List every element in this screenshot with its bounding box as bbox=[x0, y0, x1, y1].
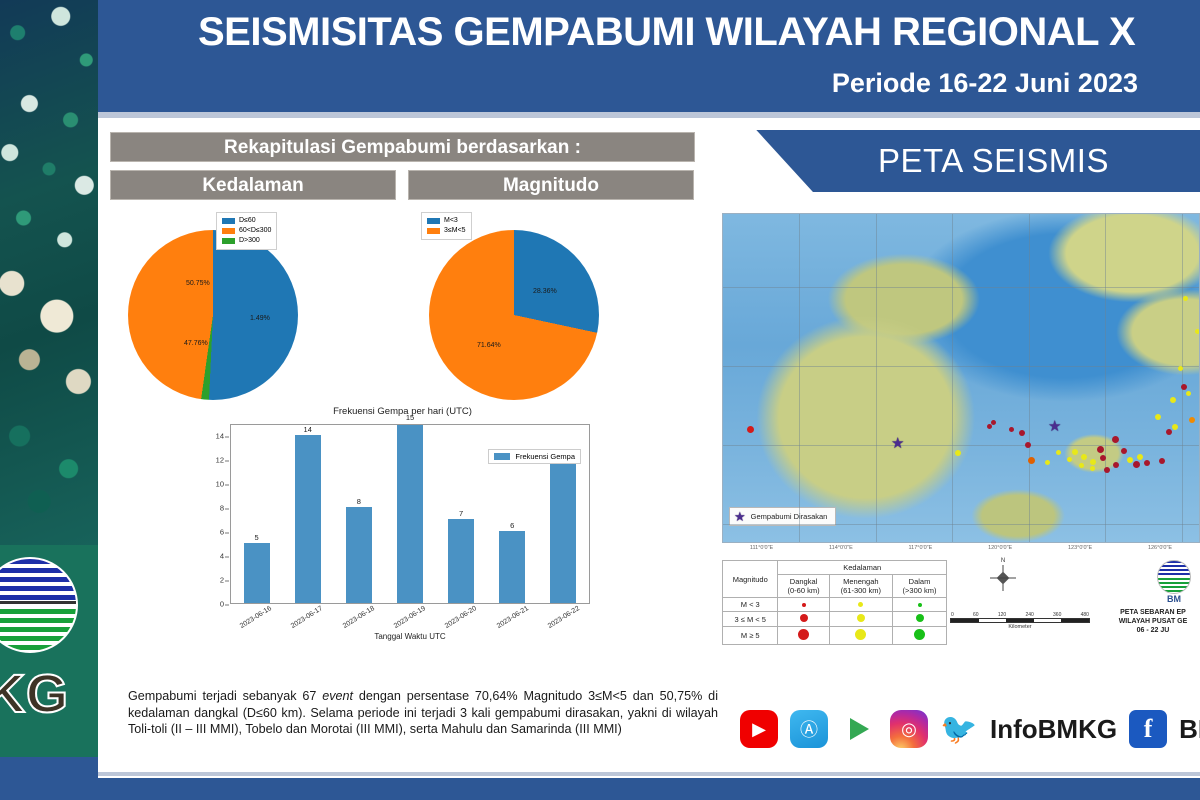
graticule-line bbox=[723, 366, 1199, 367]
page-subtitle: Periode 16-22 Juni 2023 bbox=[832, 68, 1138, 99]
x-axis-tick-label: 2023-06-18 bbox=[333, 606, 384, 624]
longitude-label: 111°0'0"E bbox=[750, 545, 773, 551]
bmkg-globe-small-icon bbox=[1157, 560, 1191, 594]
map-title-line-3: 06 - 22 JU bbox=[1098, 626, 1200, 635]
legend-swatch-icon bbox=[222, 228, 235, 234]
epicenter-marker bbox=[1067, 457, 1072, 462]
graticule-line bbox=[1182, 214, 1183, 542]
magnitude-dot-icon bbox=[916, 614, 924, 622]
scale-tick: 360 bbox=[1053, 612, 1061, 618]
legend-symbol-cell bbox=[829, 598, 892, 612]
graticule-line bbox=[723, 287, 1199, 288]
pie-slice-label: 1.49% bbox=[250, 315, 270, 322]
legend-label: 60<D≤300 bbox=[239, 226, 271, 236]
pie-magnitudo-graphic: 28.36% 71.64% bbox=[429, 230, 599, 400]
map-title-block: PETA SEBARAN EP WILAYAH PUSAT GE 06 - 22… bbox=[1098, 608, 1200, 635]
legend-swatch-icon bbox=[427, 218, 440, 224]
bar-chart-legend: Frekuensi Gempa bbox=[488, 449, 581, 464]
table-header-row: Magnitudo Kedalaman bbox=[723, 561, 947, 575]
legend-label: Frekuensi Gempa bbox=[515, 452, 575, 461]
longitude-label: 114°0'0"E bbox=[829, 545, 853, 551]
scale-tick: 60 bbox=[973, 612, 979, 618]
epicenter-marker bbox=[955, 450, 961, 456]
pie-slice-label: 71.64% bbox=[477, 342, 501, 349]
epicenter-marker bbox=[1072, 449, 1078, 455]
epicenter-marker bbox=[1113, 462, 1119, 468]
compass-needle-icon bbox=[997, 572, 1010, 585]
legend-item: M<3 bbox=[427, 216, 466, 226]
magnitude-dot-icon bbox=[800, 614, 808, 622]
longitude-label: 120°0'0"E bbox=[988, 545, 1012, 551]
legend-row-label: M ≥ 5 bbox=[723, 627, 778, 645]
magnitude-depth-legend-table: Magnitudo Kedalaman Dangkal(0-60 km)Mene… bbox=[722, 560, 947, 645]
pie-charts-area: D≤60 60<D≤300 D>300 50.75% 47.76% 1.49% bbox=[110, 212, 705, 402]
graticule-line bbox=[799, 214, 800, 542]
x-axis-tick-label: 2023-06-20 bbox=[436, 606, 487, 624]
bar-chart-frekuensi: Frekuensi Gempa per hari (UTC) 024681012… bbox=[110, 406, 695, 646]
graticule-line bbox=[1029, 214, 1030, 542]
legend-column-header: Dalam(>300 km) bbox=[893, 575, 947, 598]
epicenter-marker bbox=[991, 420, 996, 425]
pie-magnitudo-legend: M<3 3≤M<5 bbox=[421, 212, 472, 240]
band-kedalaman: Kedalaman bbox=[110, 170, 396, 200]
epicenter-marker bbox=[1159, 458, 1165, 464]
legend-label: D>300 bbox=[239, 236, 260, 246]
scale-tick: 480 bbox=[1081, 612, 1089, 618]
bar-value-label: 14 bbox=[304, 425, 312, 434]
bar-chart-plot-area: Frekuensi Gempa 5148157612 bbox=[230, 424, 590, 604]
legend-swatch-icon bbox=[427, 228, 440, 234]
legend-row-label: M < 3 bbox=[723, 598, 778, 612]
instagram-icon[interactable]: ◎ bbox=[890, 710, 928, 748]
legend-symbol-cell bbox=[893, 612, 947, 627]
google-play-icon[interactable] bbox=[840, 710, 878, 748]
legend-label: 3≤M<5 bbox=[444, 226, 466, 236]
legend-group-header: Kedalaman bbox=[778, 561, 947, 575]
y-axis-tick: 4 bbox=[220, 552, 224, 561]
epicenter-marker bbox=[1025, 442, 1031, 448]
page-title: SEISMISITAS GEMPABUMI WILAYAH REGIONAL X bbox=[198, 10, 1200, 55]
legend-item: 3≤M<5 bbox=[427, 226, 466, 236]
epicenter-marker bbox=[1144, 460, 1150, 466]
summary-text-part1: Gempabumi terjadi sebanyak 67 bbox=[128, 689, 322, 703]
epicenter-marker bbox=[1090, 459, 1096, 465]
compass-rose: N bbox=[975, 558, 1031, 592]
magnitude-dot-icon bbox=[914, 629, 925, 640]
y-axis-tick: 0 bbox=[220, 600, 224, 609]
epicenter-marker bbox=[1170, 397, 1176, 403]
longitude-label: 126°0'0"E bbox=[1148, 545, 1172, 551]
summary-emphasis: event bbox=[322, 689, 353, 703]
pie-slice-label: 28.36% bbox=[533, 288, 557, 295]
left-strip-footer bbox=[0, 757, 98, 800]
epicenter-marker bbox=[1127, 457, 1133, 463]
x-axis-tick-label: 2023-06-17 bbox=[281, 606, 332, 624]
epicenter-marker bbox=[1081, 454, 1087, 460]
pie-kedalaman-legend: D≤60 60<D≤300 D>300 bbox=[216, 212, 277, 250]
map-banner: PETA SEISMIS bbox=[728, 130, 1200, 192]
felt-star-icon: ★ bbox=[734, 510, 746, 523]
map-longitude-labels: 111°0'0"E114°0'0"E117°0'0"E120°0'0"E123°… bbox=[722, 545, 1200, 551]
bmkg-logo-panel: KG bbox=[0, 545, 98, 757]
bar-value-label: 8 bbox=[357, 497, 361, 506]
legend-item: D>300 bbox=[222, 236, 271, 246]
bar-item[interactable]: 5 bbox=[231, 425, 282, 603]
magnitude-dot-icon bbox=[857, 614, 865, 622]
legend-symbol-cell bbox=[829, 612, 892, 627]
graticule-line bbox=[723, 524, 1199, 525]
graticule-line bbox=[952, 214, 953, 542]
epicenter-marker bbox=[1181, 384, 1187, 390]
bar-chart-y-axis: 02468101214 bbox=[206, 424, 228, 604]
bar-item[interactable]: 7 bbox=[436, 425, 487, 603]
legend-row-label: 3 ≤ M < 5 bbox=[723, 612, 778, 627]
legend-column-header: Menengah(61-300 km) bbox=[829, 575, 892, 598]
y-axis-tick: 6 bbox=[220, 528, 224, 537]
felt-legend-label: Gempabumi Dirasakan bbox=[751, 512, 828, 521]
scale-bar-graphic bbox=[950, 618, 1090, 623]
batik-pattern bbox=[0, 0, 98, 545]
x-axis-tick-label: 2023-06-19 bbox=[384, 606, 435, 624]
magnitude-dot-icon bbox=[855, 629, 866, 640]
epicenter-marker bbox=[1121, 448, 1127, 454]
pie-kedalaman-graphic: 50.75% 47.76% 1.49% bbox=[128, 230, 298, 400]
recap-band-title: Rekapitulasi Gempabumi berdasarkan : bbox=[110, 132, 695, 162]
legend-swatch-icon bbox=[222, 218, 235, 224]
youtube-icon[interactable]: ▶ bbox=[740, 710, 778, 748]
legend-symbol-cell bbox=[829, 627, 892, 645]
bar-value-label: 15 bbox=[406, 413, 414, 422]
epicenter-marker bbox=[1097, 446, 1104, 453]
pie-slice-label: 47.76% bbox=[184, 340, 208, 347]
legend-item: D≤60 bbox=[222, 216, 271, 226]
epicenter-marker bbox=[987, 424, 992, 429]
legend-label: D≤60 bbox=[239, 216, 256, 226]
felt-earthquake-star-icon: ★ bbox=[891, 436, 904, 451]
page-footer bbox=[98, 778, 1200, 800]
bmkg-globe-icon bbox=[0, 557, 78, 653]
legend-table-row: 3 ≤ M < 5 bbox=[723, 612, 947, 627]
epicenter-marker bbox=[1183, 296, 1188, 301]
bar-rect bbox=[397, 425, 423, 603]
legend-label: M<3 bbox=[444, 216, 458, 226]
bar-value-label: 5 bbox=[254, 533, 258, 542]
epicenter-marker bbox=[1155, 414, 1161, 420]
legend-swatch-icon bbox=[494, 453, 510, 460]
scale-tick: 240 bbox=[1025, 612, 1033, 618]
bar-item[interactable]: 8 bbox=[333, 425, 384, 603]
bar-rect bbox=[244, 543, 270, 603]
twitter-handle: InfoBMKG bbox=[990, 714, 1117, 745]
epicenter-marker bbox=[1178, 366, 1183, 371]
longitude-label: 123°0'0"E bbox=[1068, 545, 1092, 551]
compass-rose-icon bbox=[990, 565, 1016, 591]
bar-rect bbox=[346, 507, 372, 603]
scale-tick: 120 bbox=[998, 612, 1006, 618]
magnitude-dot-icon bbox=[858, 602, 863, 607]
epicenter-marker bbox=[1133, 461, 1140, 468]
epicenter-marker bbox=[1166, 429, 1172, 435]
legend-table-row: M < 3 bbox=[723, 598, 947, 612]
epicenter-marker bbox=[1056, 450, 1061, 455]
legend-item: 60<D≤300 bbox=[222, 226, 271, 236]
epicenter-marker bbox=[1186, 391, 1191, 396]
felt-earthquake-star-icon: ★ bbox=[1048, 419, 1061, 434]
bmkg-wordmark: KG bbox=[0, 663, 98, 725]
scale-unit-label: Kilometer bbox=[950, 624, 1090, 630]
map-scale-bar: 060120240360480 Kilometer bbox=[950, 612, 1090, 630]
longitude-label: 117°0'0"E bbox=[909, 545, 933, 551]
bar-chart-x-labels: 2023-06-162023-06-172023-06-182023-06-19… bbox=[230, 606, 590, 624]
legend-column-header: Dangkal(0-60 km) bbox=[778, 575, 829, 598]
legend-corner-header: Magnitudo bbox=[723, 561, 778, 598]
bar-chart-x-title: Tanggal Waktu UTC bbox=[230, 632, 590, 641]
legend-symbol-cell bbox=[893, 627, 947, 645]
bar-value-label: 7 bbox=[459, 509, 463, 518]
legend-symbol-cell bbox=[893, 598, 947, 612]
epicenter-marker bbox=[1009, 427, 1014, 432]
epicenter-marker bbox=[1045, 460, 1050, 465]
twitter-icon[interactable]: 🐦 bbox=[940, 710, 978, 748]
scale-tick: 0 bbox=[951, 612, 954, 618]
social-media-bar: ▶ Ⓐ ◎ 🐦 InfoBMKG f BMK bbox=[740, 710, 1200, 748]
footer-divider bbox=[98, 772, 1200, 776]
facebook-icon[interactable]: f bbox=[1129, 710, 1167, 748]
legend-table-row: M ≥ 5 bbox=[723, 627, 947, 645]
legend-symbol-cell bbox=[778, 598, 829, 612]
y-axis-tick: 10 bbox=[216, 480, 224, 489]
bmkg-small-label: BM bbox=[1148, 594, 1200, 604]
pie-chart-magnitudo: M<3 3≤M<5 28.36% 71.64% bbox=[415, 212, 599, 400]
y-axis-tick: 12 bbox=[216, 456, 224, 465]
y-axis-tick: 2 bbox=[220, 576, 224, 585]
facebook-handle: BMK bbox=[1179, 714, 1200, 745]
epicenter-marker bbox=[1112, 436, 1119, 443]
play-triangle-icon bbox=[850, 718, 869, 740]
seismicity-map[interactable]: ★ Gempabumi Dirasakan ★★ bbox=[722, 213, 1200, 543]
app-store-icon[interactable]: Ⓐ bbox=[790, 710, 828, 748]
bar-rect bbox=[448, 519, 474, 603]
x-axis-tick-label: 2023-06-22 bbox=[539, 606, 590, 624]
magnitude-dot-icon bbox=[918, 603, 922, 607]
epicenter-marker bbox=[1189, 417, 1195, 423]
page-header: SEISMISITAS GEMPABUMI WILAYAH REGIONAL X… bbox=[98, 0, 1200, 112]
bar-chart-title: Frekuensi Gempa per hari (UTC) bbox=[110, 406, 695, 417]
pie-chart-kedalaman: D≤60 60<D≤300 D>300 50.75% 47.76% 1.49% bbox=[128, 212, 298, 400]
left-decorative-strip: KG bbox=[0, 0, 98, 800]
magnitude-dot-icon bbox=[798, 629, 809, 640]
bar-item[interactable]: 14 bbox=[282, 425, 333, 603]
infographic-root: KG SEISMISITAS GEMPABUMI WILAYAH REGIONA… bbox=[0, 0, 1200, 800]
epicenter-marker bbox=[1137, 454, 1143, 460]
graticule-line bbox=[1105, 214, 1106, 542]
graticule-line bbox=[876, 214, 877, 542]
map-title-line-2: WILAYAH PUSAT GE bbox=[1098, 617, 1200, 626]
map-title-line-1: PETA SEBARAN EP bbox=[1098, 608, 1200, 617]
map-banner-title: PETA SEISMIS bbox=[878, 142, 1109, 180]
legend-symbol-cell bbox=[778, 627, 829, 645]
summary-paragraph: Gempabumi terjadi sebanyak 67 event deng… bbox=[128, 688, 718, 738]
compass-north-label: N bbox=[975, 558, 1031, 564]
recap-subband-row: Kedalaman Magnitudo bbox=[110, 170, 705, 200]
epicenter-marker bbox=[1079, 463, 1084, 468]
magnitude-dot-icon bbox=[802, 603, 806, 607]
x-axis-tick-label: 2023-06-21 bbox=[487, 606, 538, 624]
recap-column: Rekapitulasi Gempabumi berdasarkan : Ked… bbox=[110, 132, 705, 692]
graticule-line bbox=[723, 445, 1199, 446]
header-divider bbox=[98, 112, 1200, 118]
band-magnitudo: Magnitudo bbox=[408, 170, 694, 200]
epicenter-marker bbox=[1195, 329, 1200, 334]
epicenter-marker bbox=[1100, 455, 1106, 461]
bar-item[interactable]: 15 bbox=[384, 425, 435, 603]
bar-rect bbox=[499, 531, 525, 603]
pie-slice-label: 50.75% bbox=[186, 280, 210, 287]
y-axis-tick: 14 bbox=[216, 432, 224, 441]
epicenter-marker bbox=[1019, 430, 1025, 436]
legend-symbol-cell bbox=[778, 612, 829, 627]
epicenter-marker bbox=[1028, 457, 1035, 464]
map-felt-legend: ★ Gempabumi Dirasakan bbox=[729, 507, 836, 526]
epicenter-marker bbox=[1090, 466, 1095, 471]
bar-rect bbox=[550, 459, 576, 603]
epicenter-marker bbox=[747, 426, 754, 433]
map-bmkg-logo: BM bbox=[1148, 560, 1200, 606]
y-axis-tick: 8 bbox=[220, 504, 224, 513]
legend-swatch-icon bbox=[222, 238, 235, 244]
epicenter-marker bbox=[1104, 467, 1110, 473]
bar-rect bbox=[295, 435, 321, 603]
x-axis-tick-label: 2023-06-16 bbox=[230, 606, 281, 624]
bar-value-label: 6 bbox=[510, 521, 514, 530]
epicenter-marker bbox=[1172, 424, 1178, 430]
